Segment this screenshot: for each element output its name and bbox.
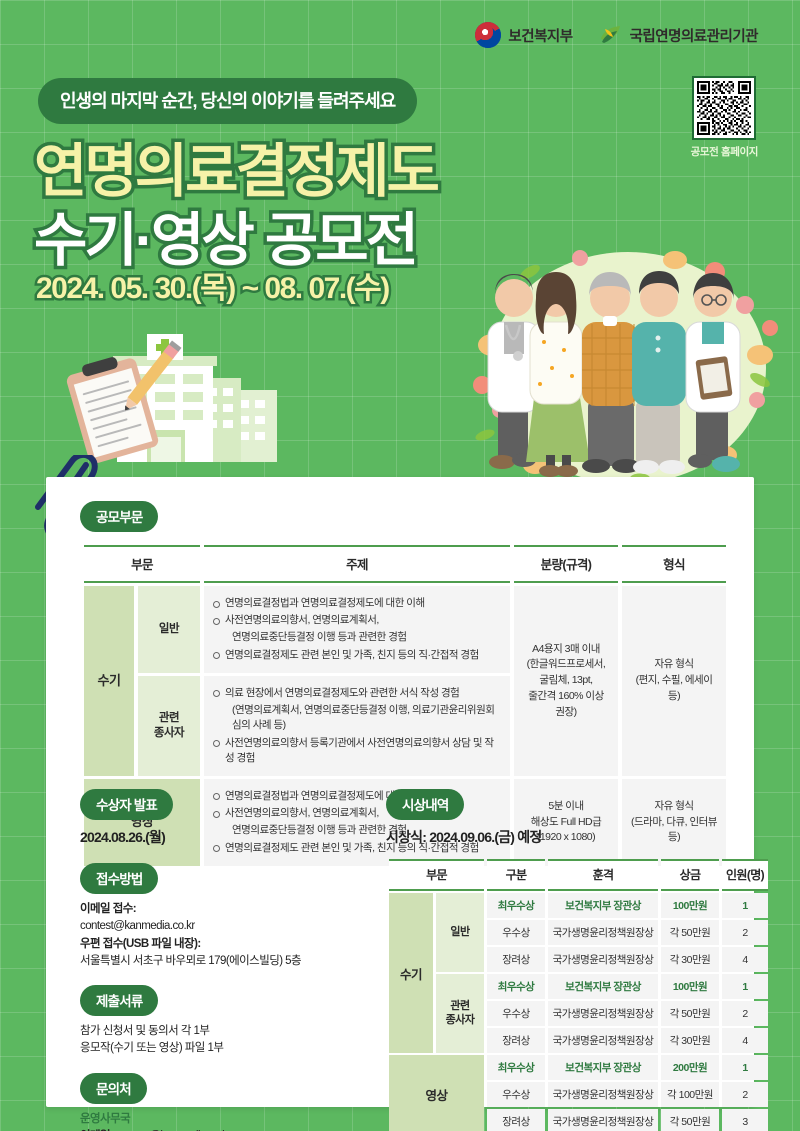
awards-table-row: 관련종사자최우수상보건복지부 장관상100만원1 <box>389 974 768 999</box>
awards-grade-cell: 장려상 <box>487 1028 545 1053</box>
awards-header-cell: 훈격 <box>548 859 658 891</box>
qr-code-image[interactable] <box>692 76 756 140</box>
tagline-banner: 인생의 마지막 순간, 당신의 이야기를 들려주세요 <box>38 78 417 124</box>
qr-block[interactable]: 공모전 홈페이지 <box>691 76 758 159</box>
lower-sections: 수상자 발표 2024.08.26.(월) 접수방법 이메일 접수: conte… <box>80 789 720 1131</box>
content-card: 공모부문 부문 주제 분량(규격) 형식 수기일반연명의료결정법과 연명의료결정… <box>46 477 754 1107</box>
date-range: 2024. 05. 30.(목) ~ 08. 07.(수) <box>36 263 389 307</box>
institute-logo-group: 국립연명의료관리기관 <box>599 24 758 46</box>
entry-header-cell: 부문 <box>84 545 200 583</box>
awards-prize-cell: 각 50만원 <box>661 920 719 945</box>
awards-prize-cell: 각 30만원 <box>661 947 719 972</box>
awards-header-cell: 인원(명) <box>722 859 768 891</box>
awards-prize-cell: 각 30만원 <box>661 1028 719 1053</box>
contact-pill: 문의처 <box>80 1073 147 1104</box>
awards-count-cell: 4 <box>722 1028 768 1053</box>
entry-header-cell: 주제 <box>204 545 510 583</box>
documents-line1: 참가 신청서 및 동의서 각 1부 <box>80 1023 366 1040</box>
awards-prize-cell: 200만원 <box>661 1055 719 1080</box>
submission-block: 접수방법 이메일 접수: contest@kanmedia.co.kr 우편 접… <box>80 863 366 970</box>
logo-bar: 보건복지부 국립연명의료관리기관 <box>475 22 758 48</box>
qr-caption: 공모전 홈페이지 <box>691 144 758 159</box>
submission-post-label: 우편 접수(USB 파일 내장): <box>80 936 366 953</box>
entry-topic-item: 사전연명의료의향서, 연명의료계획서, <box>213 613 501 628</box>
awards-count-cell: 3 <box>722 1109 768 1131</box>
awards-honor-cell: 국가생명윤리정책원장상 <box>548 1109 658 1131</box>
documents-pill: 제출서류 <box>80 985 158 1016</box>
awards-prize-cell: 각 50만원 <box>661 1001 719 1026</box>
awards-pill: 시상내역 <box>386 789 464 820</box>
announcement-date: 2024.08.26.(월) <box>80 827 366 848</box>
awards-grade-cell: 우수상 <box>487 920 545 945</box>
awards-honor-cell: 보건복지부 장관상 <box>548 893 658 918</box>
awards-header-cell: 부문 <box>389 859 484 891</box>
documents-line2: 응모작(수기 또는 영상) 파일 1부 <box>80 1040 366 1057</box>
entry-topic-item: 연명의료결정법과 연명의료결정제도에 대한 이해 <box>213 596 501 611</box>
awards-table-row: 영상최우수상보건복지부 장관상200만원1 <box>389 1055 768 1080</box>
awards-prize-cell: 100만원 <box>661 974 719 999</box>
contact-office: 운영사무국 <box>80 1111 366 1128</box>
awards-honor-cell: 국가생명윤리정책원장상 <box>548 1082 658 1107</box>
awards-honor-cell: 보건복지부 장관상 <box>548 1055 658 1080</box>
ministry-logo-group: 보건복지부 <box>475 22 572 48</box>
awards-honor-cell: 국가생명윤리정책원장상 <box>548 947 658 972</box>
entry-header-cell: 분량(규격) <box>514 545 618 583</box>
awards-table-body: 수기일반최우수상보건복지부 장관상100만원1우수상국가생명윤리정책원장상각 5… <box>389 893 768 1131</box>
entry-topic-item: 연명의료결정제도 관련 본인 및 가족, 친지 등의 직·간접적 경험 <box>213 648 501 663</box>
awards-honor-cell: 보건복지부 장관상 <box>548 974 658 999</box>
awards-count-cell: 1 <box>722 974 768 999</box>
awards-count-cell: 2 <box>722 1082 768 1107</box>
submission-email-value[interactable]: contest@kanmedia.co.kr <box>80 918 366 935</box>
awards-table: 부문 구분 훈격 상금 인원(명) 수기일반최우수상보건복지부 장관상100만원… <box>386 857 771 1131</box>
awards-subcategory-cell: 일반 <box>436 893 484 972</box>
entry-volume-cell: A4용지 3매 이내(한글워드프로세서,굴림체, 13pt,줄간격 160% 이… <box>514 586 618 776</box>
entry-topic-item: 의료 현장에서 연명의료결정제도와 관련한 서식 작성 경험 <box>213 686 501 701</box>
entry-topic-cell: 연명의료결정법과 연명의료결정제도에 대한 이해사전연명의료의향서, 연명의료계… <box>204 586 510 673</box>
entry-table-row: 수기일반연명의료결정법과 연명의료결정제도에 대한 이해사전연명의료의향서, 연… <box>84 586 726 673</box>
awards-count-cell: 1 <box>722 1055 768 1080</box>
awards-grade-cell: 우수상 <box>487 1082 545 1107</box>
awards-honor-cell: 국가생명윤리정책원장상 <box>548 1028 658 1053</box>
entry-topic-item: 사전연명의료의향서 등록기관에서 사전연명의료의향서 상담 및 작성 경험 <box>213 736 501 766</box>
awards-header-cell: 상금 <box>661 859 719 891</box>
documents-block: 제출서류 참가 신청서 및 동의서 각 1부 응모작(수기 또는 영상) 파일 … <box>80 985 366 1058</box>
submission-post-value: 서울특별시 서초구 바우뫼로 179(에이스빌딩) 5층 <box>80 953 366 970</box>
family-and-medical-staff-illustration <box>460 250 790 485</box>
awards-count-cell: 1 <box>722 893 768 918</box>
awards-table-header-row: 부문 구분 훈격 상금 인원(명) <box>389 859 768 891</box>
announcement-pill: 수상자 발표 <box>80 789 173 820</box>
institute-label: 국립연명의료관리기관 <box>630 25 758 46</box>
entry-topic-item: 연명의료중단등결정 이행 등과 관련한 경험 <box>213 630 501 645</box>
awards-grade-cell: 최우수상 <box>487 974 545 999</box>
awards-prize-cell: 100만원 <box>661 893 719 918</box>
entry-table-header-row: 부문 주제 분량(규격) 형식 <box>84 545 726 583</box>
awards-category-cell: 영상 <box>389 1055 484 1131</box>
entry-subcategory-cell: 일반 <box>138 586 200 673</box>
awards-table-row: 수기일반최우수상보건복지부 장관상100만원1 <box>389 893 768 918</box>
awards-grade-cell: 장려상 <box>487 1109 545 1131</box>
awards-grade-cell: 우수상 <box>487 1001 545 1026</box>
entry-category-cell: 수기 <box>84 586 134 776</box>
awards-header-cell: 구분 <box>487 859 545 891</box>
entry-header-cell: 형식 <box>622 545 726 583</box>
awards-subcategory-cell: 관련종사자 <box>436 974 484 1053</box>
awards-grade-cell: 최우수상 <box>487 893 545 918</box>
entry-topic-item: (연명의료계획서, 연명의료중단등결정 이행, 의료기관윤리위원회 심의 사례 … <box>213 703 501 733</box>
entry-format-cell: 자유 형식(편지, 수필, 에세이 등) <box>622 586 726 776</box>
korea-government-taegeuk-logo-icon <box>475 22 501 48</box>
leaf-logo-icon <box>599 24 623 46</box>
awards-count-cell: 2 <box>722 920 768 945</box>
submission-email-label: 이메일 접수: <box>80 901 366 918</box>
submission-pill: 접수방법 <box>80 863 158 894</box>
contact-block: 문의처 운영사무국 이메일: contest@kanmedia.co.kr 전화… <box>80 1073 366 1131</box>
poster-root: 보건복지부 국립연명의료관리기관 <box>0 0 800 1131</box>
awards-prize-cell: 각 100만원 <box>661 1082 719 1107</box>
awards-category-cell: 수기 <box>389 893 433 1053</box>
entry-subcategory-cell: 관련종사자 <box>138 676 200 776</box>
awards-honor-cell: 국가생명윤리정책원장상 <box>548 920 658 945</box>
entry-topic-cell: 의료 현장에서 연명의료결정제도와 관련한 서식 작성 경험(연명의료계획서, … <box>204 676 510 776</box>
awards-honor-cell: 국가생명윤리정책원장상 <box>548 1001 658 1026</box>
awards-grade-cell: 최우수상 <box>487 1055 545 1080</box>
awards-count-cell: 2 <box>722 1001 768 1026</box>
awards-ceremony: 시상식: 2024.09.06.(금) 예정 <box>386 827 720 848</box>
entry-section-pill: 공모부문 <box>80 501 158 532</box>
awards-prize-cell: 각 50만원 <box>661 1109 719 1131</box>
awards-grade-cell: 장려상 <box>487 947 545 972</box>
left-column: 수상자 발표 2024.08.26.(월) 접수방법 이메일 접수: conte… <box>80 789 366 1131</box>
announcement-block: 수상자 발표 2024.08.26.(월) <box>80 789 366 848</box>
ministry-label: 보건복지부 <box>508 25 572 46</box>
right-column: 시상내역 시상식: 2024.09.06.(금) 예정 부문 구분 훈격 상금 … <box>386 789 720 1131</box>
awards-count-cell: 4 <box>722 947 768 972</box>
